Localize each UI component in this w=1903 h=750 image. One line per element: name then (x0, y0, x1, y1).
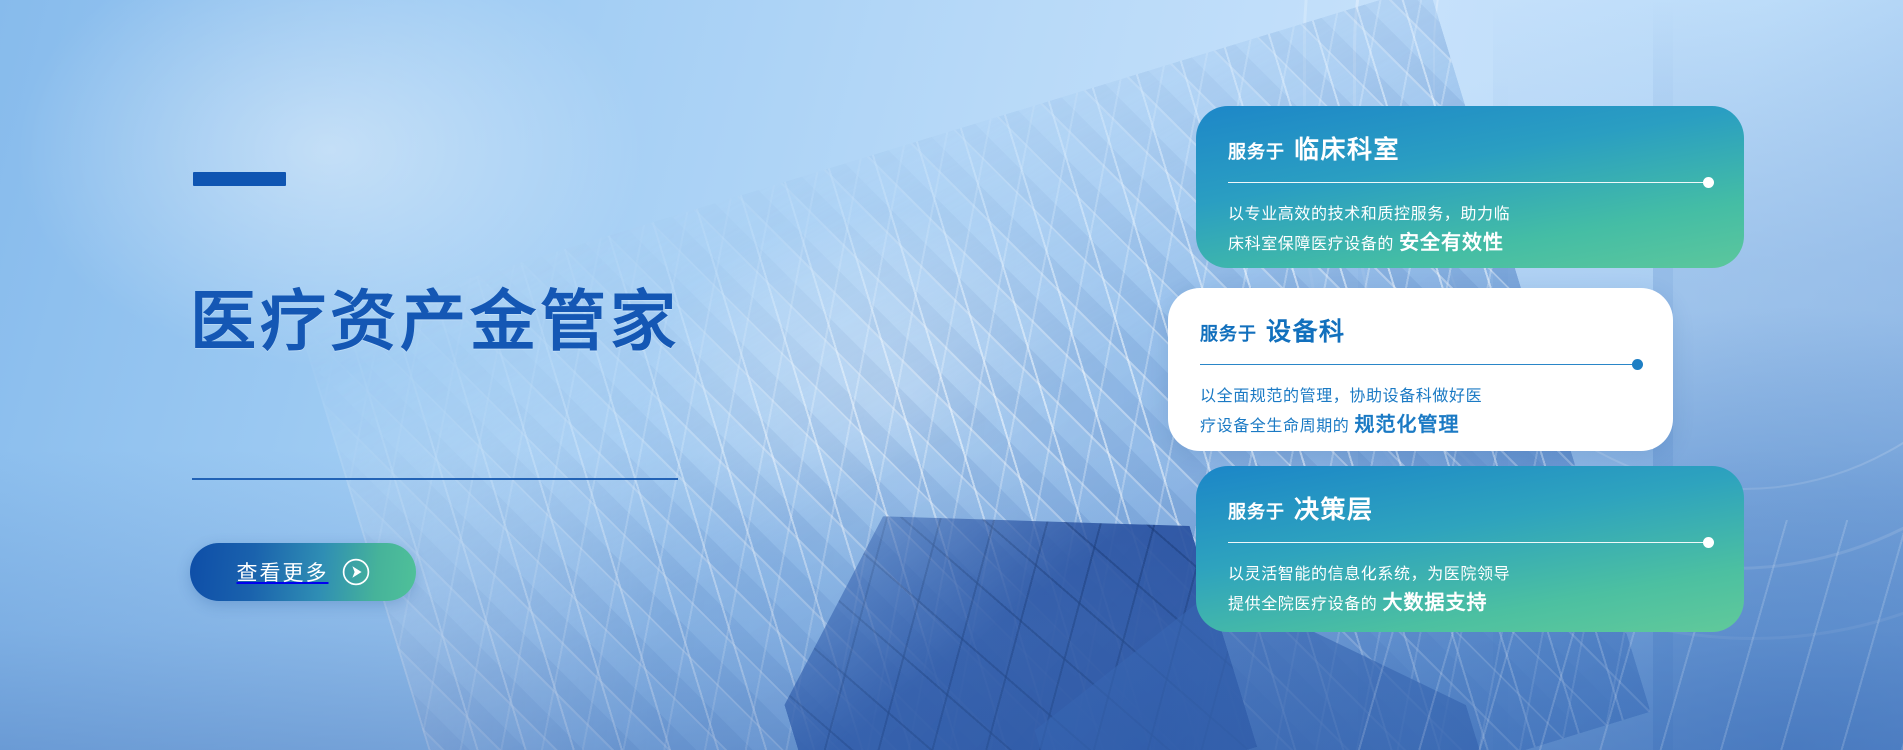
divider-dot-icon (1703, 177, 1714, 188)
service-card-body-line-1: 以专业高效的技术和质控服务，助力临 (1228, 201, 1714, 229)
service-card-divider (1200, 359, 1643, 370)
service-card-body-line-2: 床科室保障医疗设备的 安全有效性 (1228, 229, 1714, 259)
divider-line (1228, 542, 1703, 543)
service-card-title-prefix: 服务于 (1228, 138, 1285, 164)
service-card-body-line-2: 疗设备全生命周期的 规范化管理 (1200, 411, 1643, 441)
service-card-body: 以灵活智能的信息化系统，为医院领导 提供全院医疗设备的 大数据支持 (1228, 561, 1714, 619)
service-card-title: 服务于 设备科 (1200, 312, 1643, 348)
divider-dot-icon (1703, 537, 1714, 548)
service-card-decision[interactable]: 服务于 决策层 以灵活智能的信息化系统，为医院领导 提供全院医疗设备的 大数据支… (1196, 466, 1744, 632)
service-card-body-line-2: 提供全院医疗设备的 大数据支持 (1228, 589, 1714, 619)
service-card-title-keyword: 临床科室 (1294, 130, 1400, 166)
service-card-divider (1228, 177, 1714, 188)
service-card-title: 服务于 临床科室 (1228, 130, 1714, 166)
service-card-body: 以专业高效的技术和质控服务，助力临 床科室保障医疗设备的 安全有效性 (1228, 201, 1714, 259)
service-card-divider (1228, 537, 1714, 548)
service-card-body-line-1: 以全面规范的管理，协助设备科做好医 (1200, 383, 1643, 411)
service-card-body-plain: 疗设备全生命周期的 (1200, 418, 1349, 435)
service-card-title: 服务于 决策层 (1228, 490, 1714, 526)
service-card-equipment[interactable]: 服务于 设备科 以全面规范的管理，协助设备科做好医 疗设备全生命周期的 规范化管… (1168, 288, 1673, 451)
service-card-body-plain: 提供全院医疗设备的 (1228, 596, 1377, 613)
service-card-title-prefix: 服务于 (1200, 320, 1257, 346)
service-card-body: 以全面规范的管理，协助设备科做好医 疗设备全生命周期的 规范化管理 (1200, 383, 1643, 441)
hero-banner: 医疗资产金管家 查看更多 服务于 临床科室 以专业高效的技术 (0, 0, 1903, 750)
service-card-list: 服务于 临床科室 以专业高效的技术和质控服务，助力临 床科室保障医疗设备的 安全… (0, 0, 1903, 750)
service-card-body-plain: 床科室保障医疗设备的 (1228, 236, 1394, 253)
service-card-title-prefix: 服务于 (1228, 498, 1285, 524)
divider-dot-icon (1632, 359, 1643, 370)
service-card-title-keyword: 设备科 (1266, 312, 1346, 348)
service-card-title-keyword: 决策层 (1294, 490, 1374, 526)
service-card-body-highlight: 安全有效性 (1399, 232, 1504, 254)
service-card-body-highlight: 规范化管理 (1354, 414, 1459, 436)
service-card-body-line-1: 以灵活智能的信息化系统，为医院领导 (1228, 561, 1714, 589)
service-card-body-highlight: 大数据支持 (1382, 592, 1487, 614)
divider-line (1228, 182, 1703, 183)
divider-line (1200, 364, 1632, 365)
service-card-clinical[interactable]: 服务于 临床科室 以专业高效的技术和质控服务，助力临 床科室保障医疗设备的 安全… (1196, 106, 1744, 268)
